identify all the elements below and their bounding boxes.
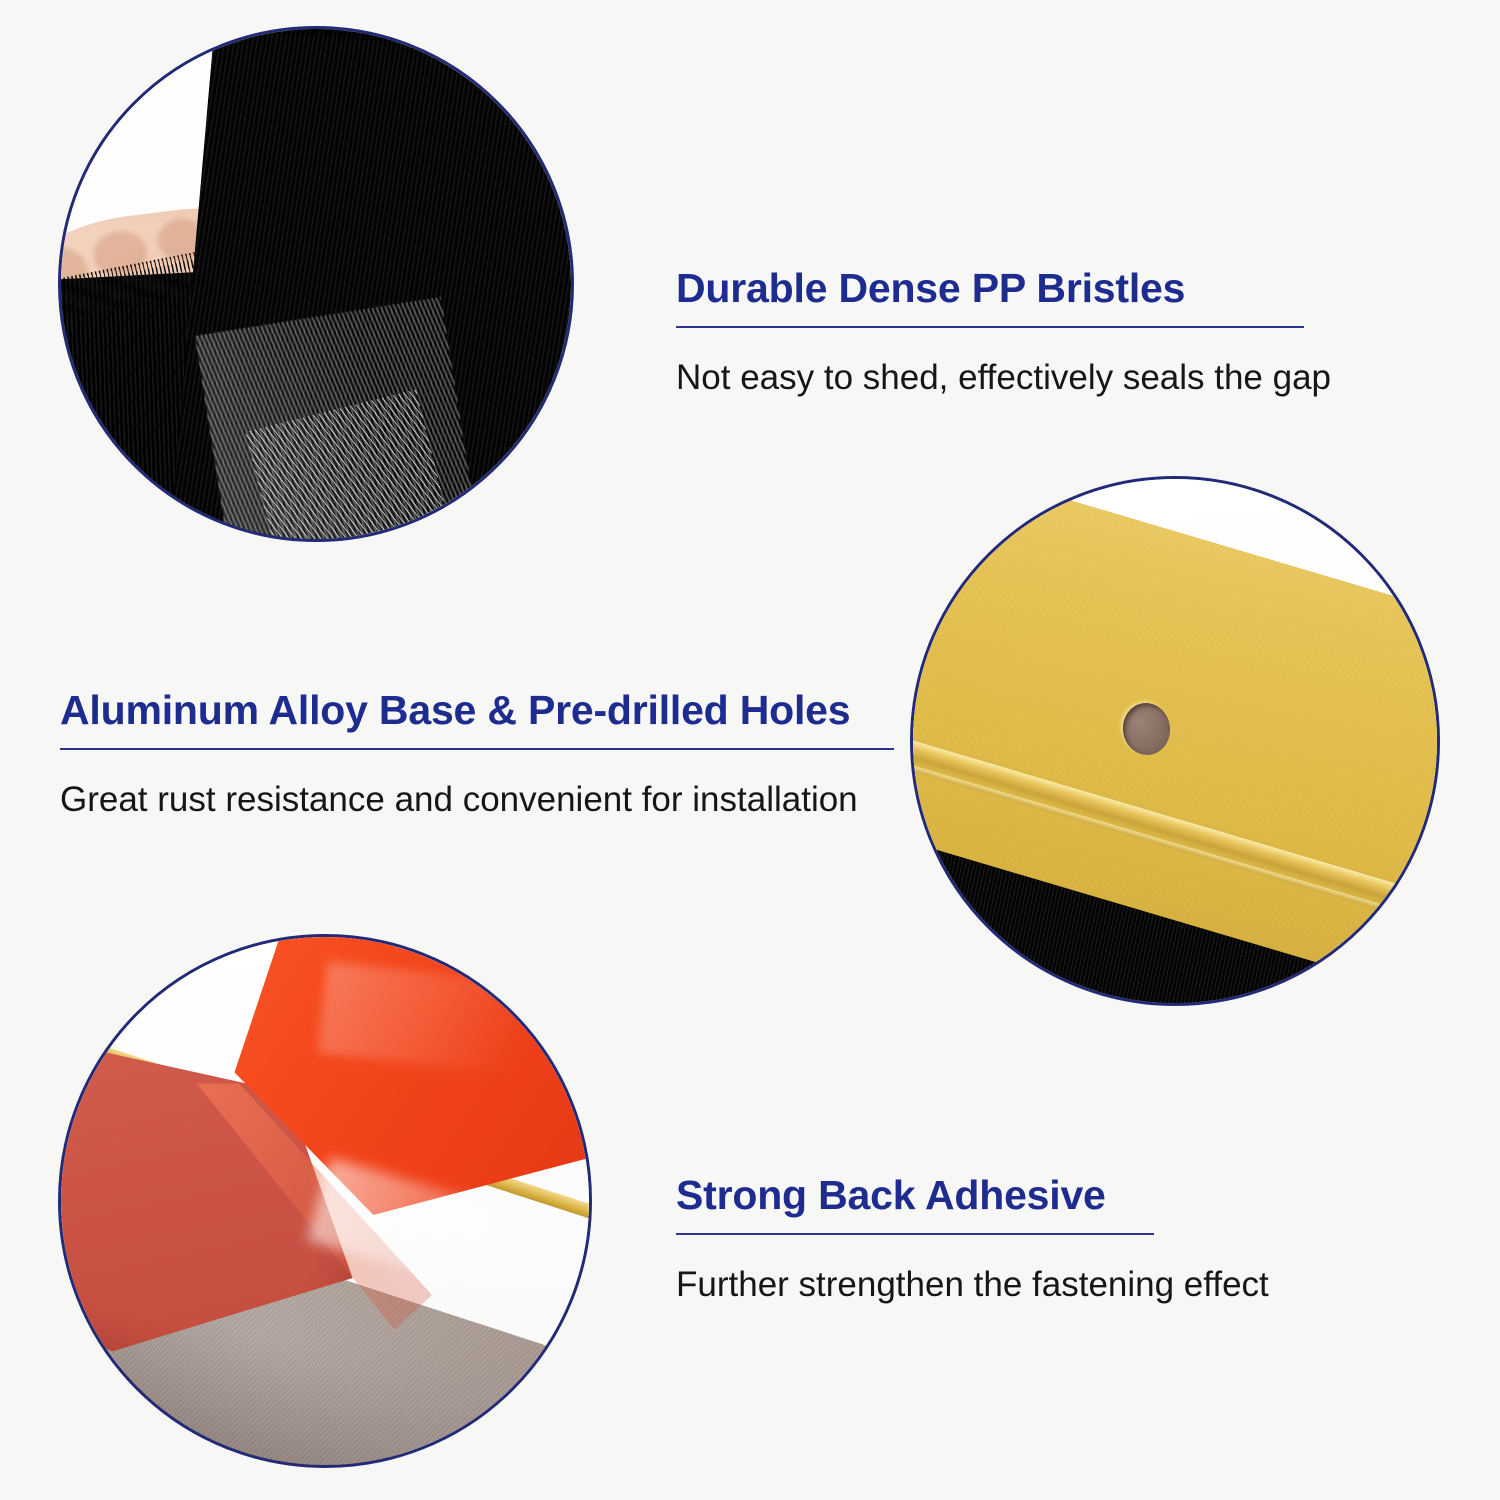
feature-text-adhesive: Strong Back Adhesive Further strengthen … (676, 1175, 1269, 1305)
feature-text-bristles: Durable Dense PP Bristles Not easy to sh… (676, 268, 1331, 398)
feature-description: Great rust resistance and convenient for… (60, 780, 894, 820)
feature-title: Durable Dense PP Bristles (676, 268, 1331, 309)
alloy-photo (910, 476, 1440, 1006)
feature-description: Not easy to shed, effectively seals the … (676, 358, 1331, 398)
title-underline (676, 326, 1304, 328)
feature-title: Aluminum Alloy Base & Pre-drilled Holes (60, 690, 894, 731)
infographic-canvas: Durable Dense PP Bristles Not easy to sh… (0, 0, 1500, 1500)
bristles-photo (58, 26, 574, 542)
feature-image-alloy (910, 476, 1440, 1006)
title-underline (676, 1233, 1154, 1235)
feature-text-alloy: Aluminum Alloy Base & Pre-drilled Holes … (60, 690, 894, 820)
feature-image-bristles (58, 26, 574, 542)
feature-title: Strong Back Adhesive (676, 1175, 1269, 1216)
feature-description: Further strengthen the fastening effect (676, 1265, 1269, 1305)
title-underline (60, 748, 894, 750)
feature-image-adhesive (58, 934, 592, 1468)
adhesive-photo (58, 934, 592, 1468)
